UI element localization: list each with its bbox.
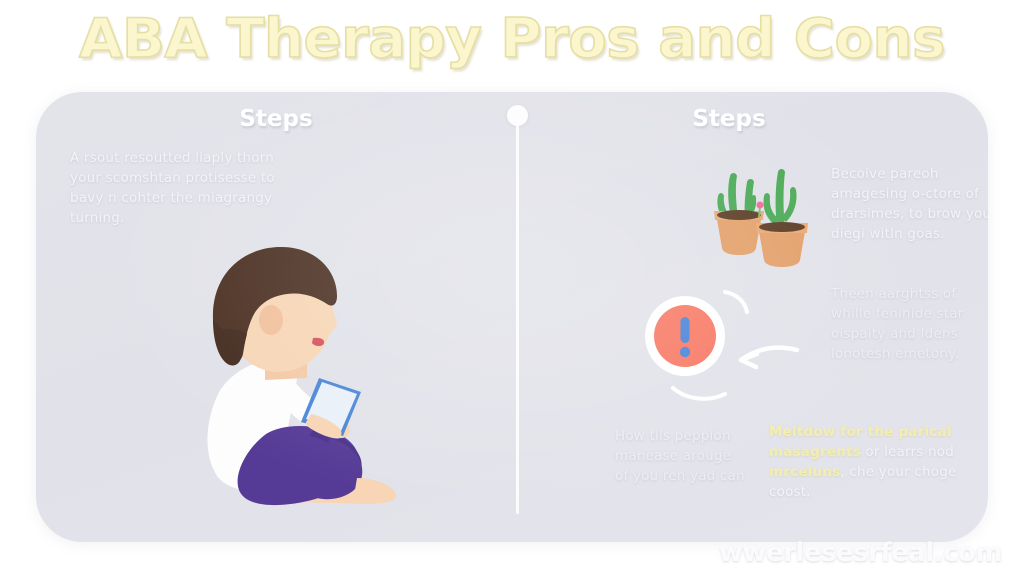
infographic-canvas: ABA Therapy Pros and Cons Steps A rsout … <box>0 0 1024 576</box>
child-reading-illustration <box>161 242 431 514</box>
left-panel: Steps A rsout resoutted liaply thorn you… <box>36 92 516 542</box>
right-panel-paragraph-top: Becoive pareoh amagesing o-ctore of drar… <box>831 164 988 244</box>
cactus-pots-illustration <box>700 156 813 269</box>
right-panel-paragraph-middle: Theen aarghtss of whille feninide star o… <box>831 284 988 364</box>
page-title: ABA Therapy Pros and Cons <box>0 6 1024 72</box>
plain-phrase-1: or learrs nod <box>861 444 954 460</box>
right-panel-heading: Steps <box>519 106 939 132</box>
left-panel-paragraph: A rsout resoutted liaply thorn your scom… <box>70 148 305 228</box>
site-watermark: wwerlesesrfeal.com <box>719 538 1002 568</box>
alert-illustration-group <box>621 270 801 415</box>
right-panel-paragraph-bottom-left: How tiis peppion manease arouge of you r… <box>615 426 745 486</box>
left-panel-heading: Steps <box>36 106 516 132</box>
content-card: Steps A rsout resoutted liaply thorn you… <box>36 92 988 542</box>
right-panel-bottom-right: Meltdow for the parical masagrents or le… <box>769 422 974 502</box>
highlight-phrase-2: mrceluns <box>769 464 840 480</box>
right-panel: Steps <box>519 92 988 542</box>
